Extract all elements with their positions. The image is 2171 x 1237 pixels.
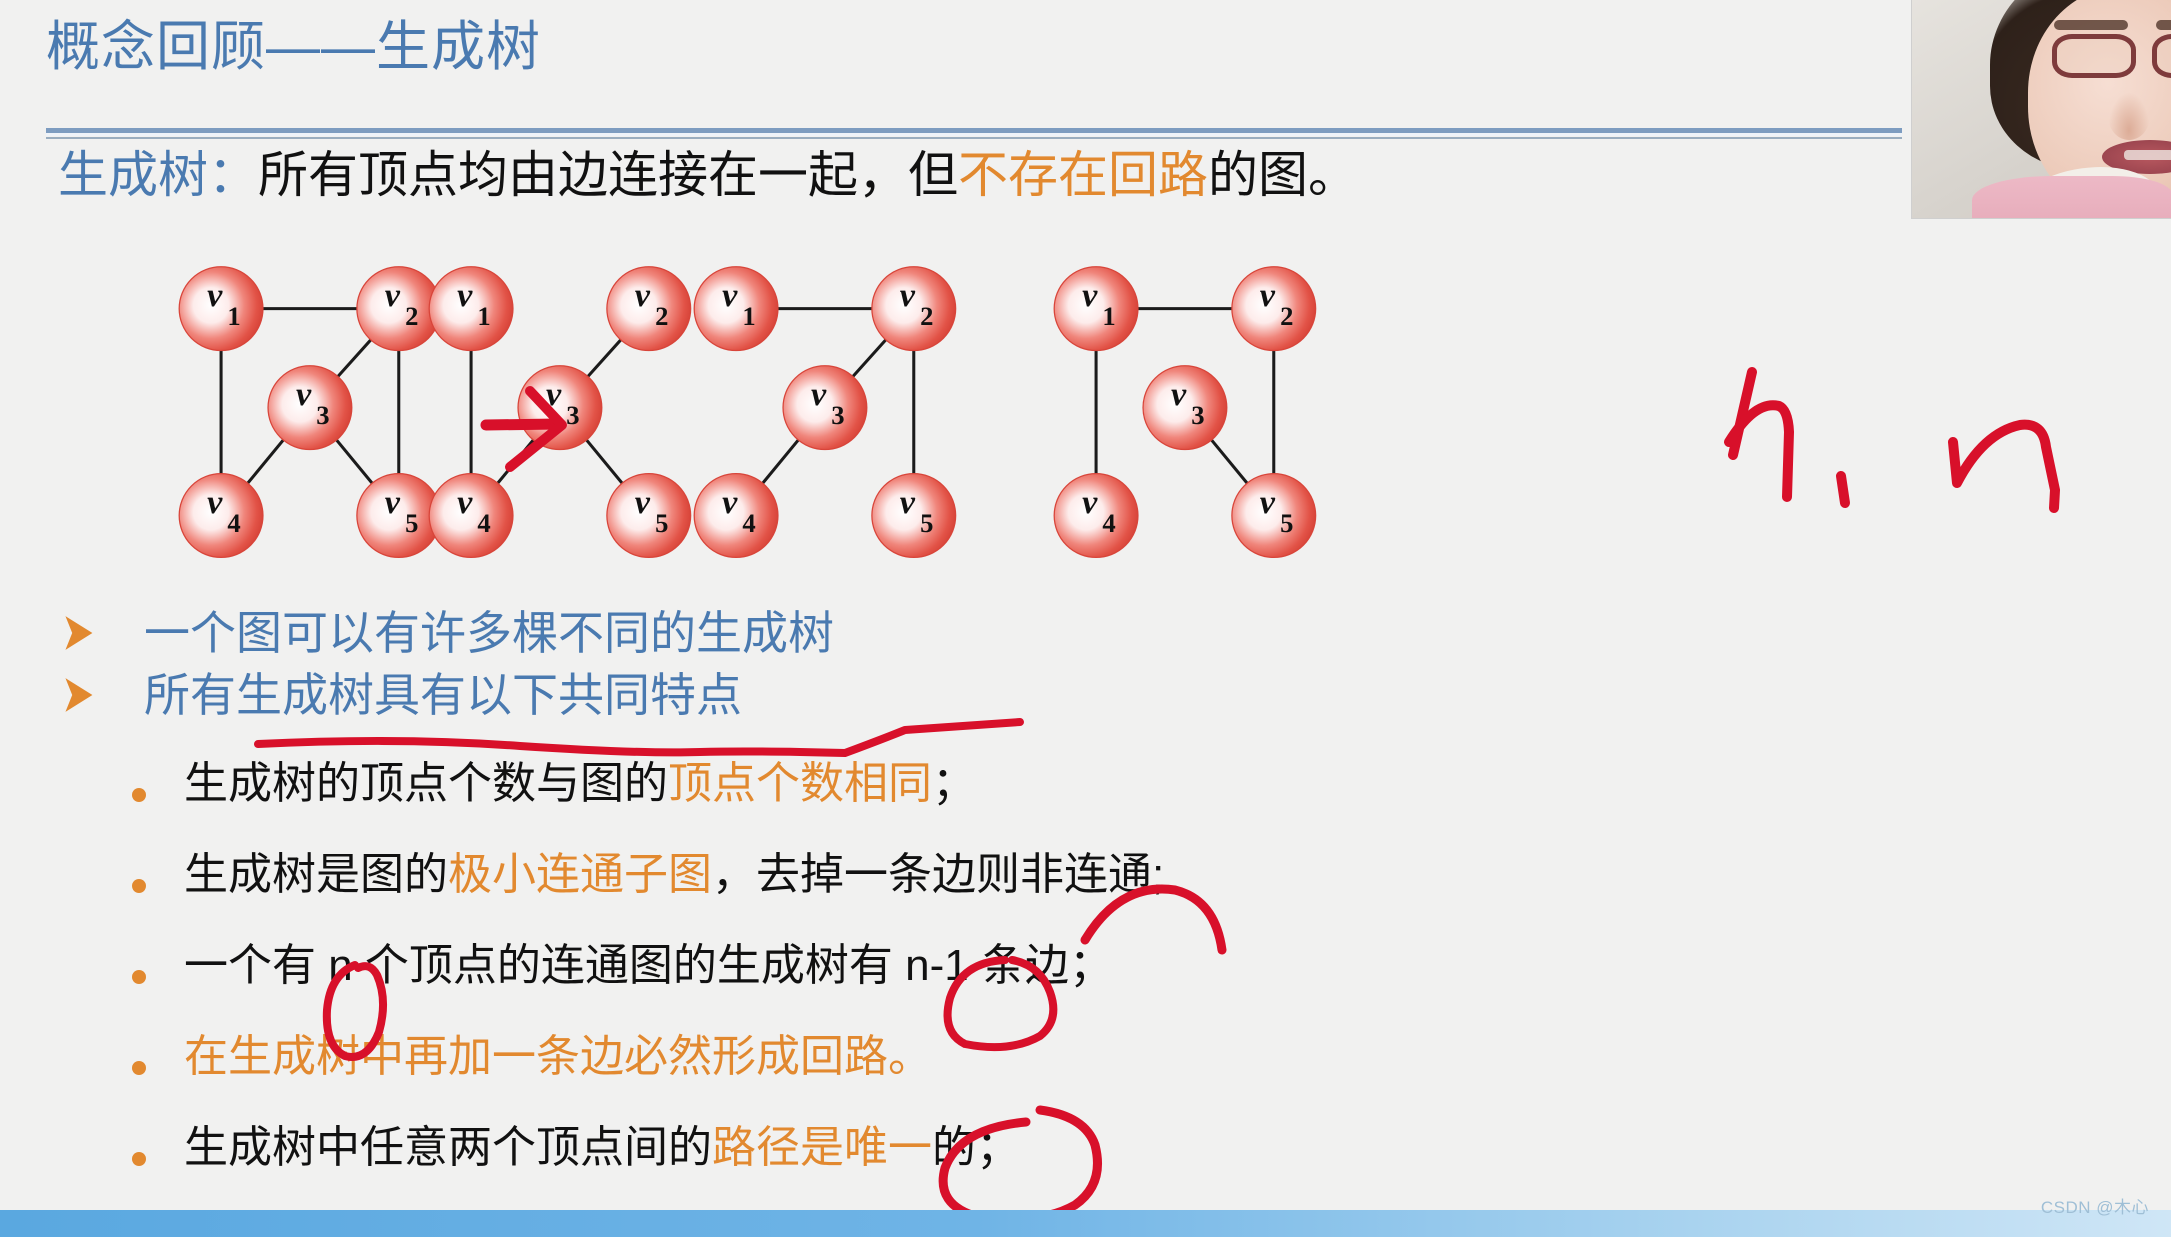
definition-body-b: 的图。 bbox=[1208, 147, 1358, 203]
graph-node-label: v bbox=[635, 276, 651, 314]
definition-highlight: 不存在回路 bbox=[958, 147, 1208, 203]
graph-node-label: v bbox=[457, 276, 473, 314]
slide-canvas: 概念回顾——生成树 生成树：所有顶点均由边连接在一起，但不存在回路的图。 v1v… bbox=[0, 0, 2171, 1237]
graph-node-v4: v4 bbox=[179, 474, 263, 558]
graph-node-v2: v2 bbox=[872, 267, 956, 351]
dot-bullet-0-text-a: 生成树的顶点个数与图的 bbox=[184, 759, 668, 808]
graph-node-label: v bbox=[722, 276, 738, 314]
graph-node-label: v bbox=[207, 483, 223, 521]
dot-bullet-icon bbox=[132, 970, 146, 984]
graph-node-subscript: 4 bbox=[742, 508, 755, 538]
dot-bullet-3-text-a: 在生成树中再加一条边必然形成回路。 bbox=[184, 1032, 932, 1081]
dot-bullet-1-text-a: 生成树是图的 bbox=[184, 850, 448, 899]
graph-node-v3: v3 bbox=[518, 366, 602, 450]
dot-bullet-0-text-b: ； bbox=[932, 759, 976, 808]
page-title: 概念回顾——生成树 bbox=[46, 16, 541, 78]
graph-node-v3: v3 bbox=[1143, 366, 1227, 450]
graph-node-v3: v3 bbox=[783, 366, 867, 450]
red-underline-common-features bbox=[258, 722, 1020, 753]
dot-bullet-icon bbox=[132, 879, 146, 893]
graph-node-label: v bbox=[900, 276, 916, 314]
graph-node-label: v bbox=[385, 276, 401, 314]
graph-node-v1: v1 bbox=[429, 267, 513, 351]
dot-bullet-4-text-b: 的； bbox=[932, 1123, 1020, 1172]
graph-node-label: v bbox=[722, 483, 738, 521]
graph-node-v3: v3 bbox=[268, 366, 352, 450]
graph-node-v4: v4 bbox=[694, 474, 778, 558]
graph-node-label: v bbox=[1082, 483, 1098, 521]
graph-node-v5: v5 bbox=[1232, 474, 1316, 558]
graph-node-label: v bbox=[1260, 483, 1276, 521]
graph-node-label: v bbox=[1171, 375, 1187, 413]
graph-node-subscript: 4 bbox=[477, 508, 490, 538]
graph-node-label: v bbox=[811, 375, 827, 413]
graph-node-v4: v4 bbox=[1054, 474, 1138, 558]
graph-edge-v3-v4 bbox=[244, 436, 286, 487]
webcam-nose bbox=[2108, 92, 2150, 140]
definition-lead: 生成树： bbox=[58, 147, 258, 203]
spanning-tree-2: v1v2v3v4v5 bbox=[665, 255, 995, 585]
graph-node-subscript: 2 bbox=[920, 301, 933, 331]
graph-node-v2: v2 bbox=[1232, 267, 1316, 351]
graph-node-subscript: 3 bbox=[316, 400, 329, 430]
graph-node-label: v bbox=[1082, 276, 1098, 314]
graph-node-subscript: 4 bbox=[1102, 508, 1115, 538]
graph-node-label: v bbox=[1260, 276, 1276, 314]
spanning-tree-3: v1v2v3v4v5 bbox=[1025, 255, 1355, 585]
graph-node-v5: v5 bbox=[872, 474, 956, 558]
graph-node-subscript: 1 bbox=[477, 301, 490, 331]
graph-edge-v3-v5 bbox=[583, 436, 625, 487]
arrow-bullet-0-label: 一个图可以有许多棵不同的生成树 bbox=[144, 608, 834, 659]
graph-node-subscript: 3 bbox=[566, 400, 579, 430]
arrow-bullet-icon bbox=[64, 678, 94, 712]
graph-node-label: v bbox=[385, 483, 401, 521]
graph-node-v4: v4 bbox=[429, 474, 513, 558]
dot-bullet-2-text-a: 一个有 n 个顶点的连通图的生成树有 n-1 条边； bbox=[184, 941, 1113, 990]
graph-node-subscript: 1 bbox=[742, 301, 755, 331]
dot-bullet-icon bbox=[132, 1152, 146, 1166]
arrow-bullet-1-label: 所有生成树具有以下共同特点 bbox=[144, 670, 742, 721]
graph-node-subscript: 1 bbox=[227, 301, 240, 331]
graph-node-subscript: 3 bbox=[1191, 400, 1204, 430]
bottom-blue-band bbox=[0, 1210, 2171, 1237]
graph-node-label: v bbox=[207, 276, 223, 314]
graph-node-subscript: 1 bbox=[1102, 301, 1115, 331]
dot-bullet-icon bbox=[132, 1061, 146, 1075]
graph-edge-v2-v3 bbox=[335, 336, 375, 380]
dot-bullet-1-highlight: 极小连通子图 bbox=[448, 850, 712, 899]
webcam-teeth bbox=[2124, 150, 2171, 160]
watermark: CSDN @木心 bbox=[2041, 1193, 2149, 1218]
graph-node-subscript: 5 bbox=[920, 508, 933, 538]
dot-bullet-0-highlight: 顶点个数相同 bbox=[668, 759, 932, 808]
graph-node-v1: v1 bbox=[179, 267, 263, 351]
webcam-eyebrow-right bbox=[2156, 20, 2171, 30]
glasses-icon bbox=[2052, 34, 2171, 80]
graph-node-subscript: 3 bbox=[831, 400, 844, 430]
webcam-overlay[interactable] bbox=[1912, 0, 2171, 218]
webcam-shirt bbox=[1972, 176, 2171, 218]
graph-edge-v2-v3 bbox=[850, 336, 890, 380]
dot-bullet-icon bbox=[132, 788, 146, 802]
graph-node-label: v bbox=[296, 375, 312, 413]
graph-node-label: v bbox=[900, 483, 916, 521]
arrow-bullet-icon bbox=[64, 616, 94, 650]
graph-node-v1: v1 bbox=[694, 267, 778, 351]
graph-edge-v2-v3 bbox=[585, 336, 625, 380]
graph-node-label: v bbox=[457, 483, 473, 521]
graph-edge-v3-v4 bbox=[759, 436, 801, 487]
webcam-eyebrow-left bbox=[2054, 20, 2128, 30]
definition-body-a: 所有顶点均由边连接在一起，但 bbox=[258, 147, 958, 203]
graph-edge-v3-v5 bbox=[1208, 436, 1250, 487]
graph-node-subscript: 4 bbox=[227, 508, 240, 538]
graph-node-label: v bbox=[635, 483, 651, 521]
graph-node-label: v bbox=[546, 375, 562, 413]
graph-node-subscript: 2 bbox=[1280, 301, 1293, 331]
graph-node-subscript: 5 bbox=[1280, 508, 1293, 538]
graph-edge-v3-v4 bbox=[494, 436, 536, 487]
definition-line: 生成树：所有顶点均由边连接在一起，但不存在回路的图。 bbox=[58, 148, 1358, 203]
dot-bullet-4-highlight: 路径是唯一 bbox=[712, 1123, 932, 1172]
graph-edge-v3-v5 bbox=[333, 436, 375, 487]
dot-bullet-1-text-b: ，去掉一条边则非连通; bbox=[712, 850, 1164, 899]
title-divider bbox=[46, 128, 1902, 138]
graph-node-v1: v1 bbox=[1054, 267, 1138, 351]
graph-diagram-row: v1v2v3v4v5v1v2v3v4v5v1v2v3v4v5v1v2v3v4v5 bbox=[0, 255, 2171, 585]
dot-bullet-4-text-a: 生成树中任意两个顶点间的 bbox=[184, 1123, 712, 1172]
